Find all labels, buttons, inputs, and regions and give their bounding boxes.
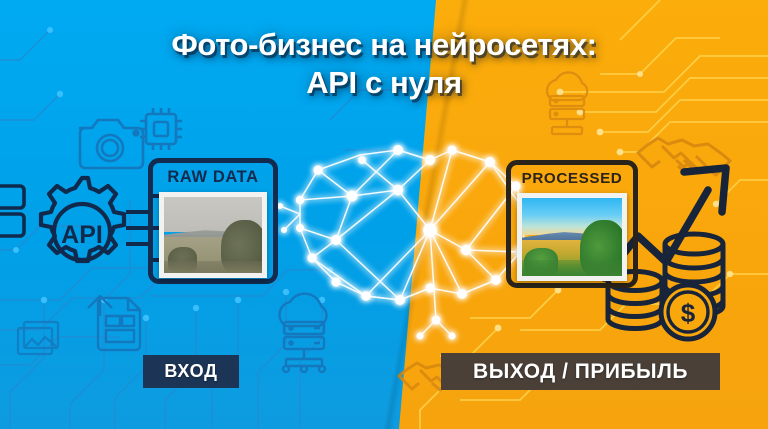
processed-card: PROCESSED: [506, 160, 638, 288]
raw-photo-thumbnail: [159, 192, 267, 278]
processed-label: PROCESSED: [511, 170, 633, 187]
promo-banner: API: [0, 0, 768, 429]
raw-data-card: RAW DATA: [148, 158, 278, 284]
processed-photo-thumbnail: [517, 193, 627, 281]
raw-data-label: RAW DATA: [153, 168, 273, 187]
page-title: Фото-бизнес на нейросетях: API с нуля: [0, 26, 768, 102]
input-stage-badge: ВХОД: [143, 355, 239, 388]
output-stage-badge: ВЫХОД / ПРИБЫЛЬ: [441, 353, 720, 390]
